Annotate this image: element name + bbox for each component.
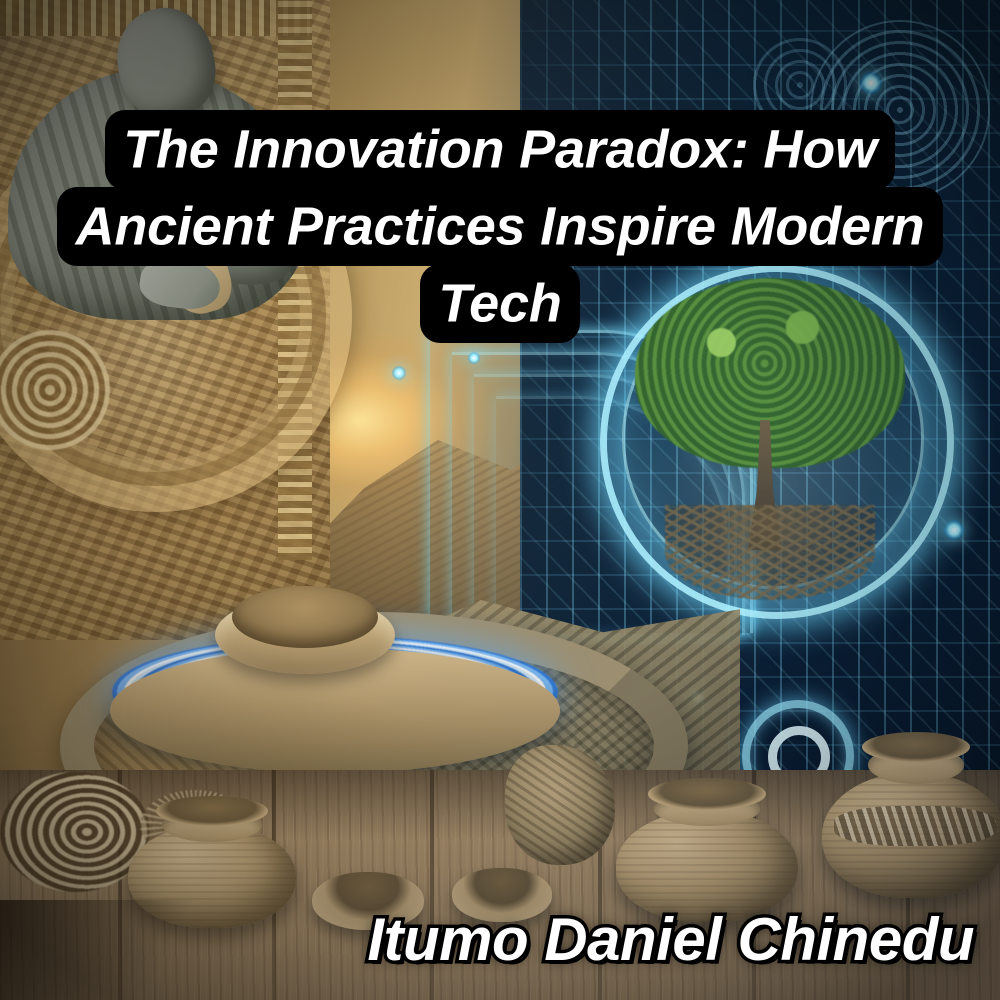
title-line-1: The Innovation Paradox: How [105, 110, 895, 189]
page-title: The Innovation Paradox: How Ancient Prac… [0, 112, 1000, 342]
cover-image: The Innovation Paradox: How Ancient Prac… [0, 0, 1000, 1000]
title-line-2: Ancient Practices Inspire Modern [57, 187, 943, 266]
title-line-3: Tech [420, 264, 580, 343]
author-name: Itumo Daniel Chinedu [0, 905, 974, 974]
